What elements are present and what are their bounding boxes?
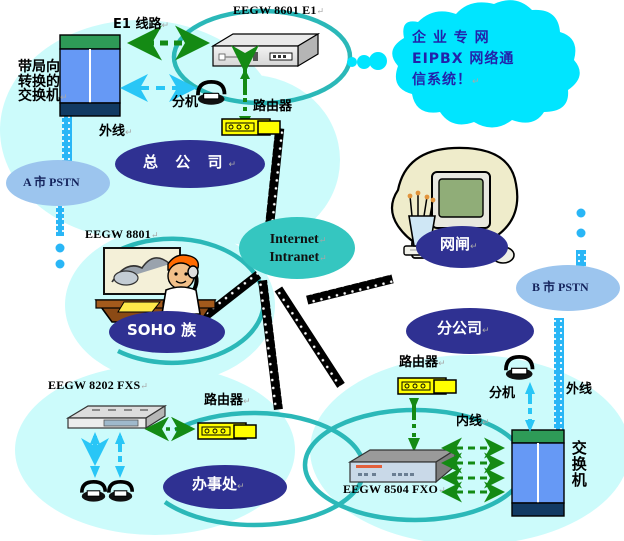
device-label-eegw8202: EEGW 8202 FXS↵ (48, 379, 148, 392)
link-label-e1-line: E1 线路↵ (113, 18, 169, 32)
router-label-hq: 路由器 (253, 100, 292, 114)
router-label-branch: 路由器↵ (399, 356, 446, 370)
eegw8504-graphic (350, 450, 455, 482)
zone-label-headquarters: 总 公 司↵ (143, 155, 242, 171)
cloud-label: 企 业 专 网 EIPBX 网络通 信系统！↵ (412, 28, 572, 91)
cloud-label-line1: 企 业 专 网 (412, 28, 572, 49)
link-label-extension-branch: 分机 (489, 387, 515, 401)
pstn-label-b: B 市 PSTN (532, 281, 589, 294)
switch-hq-graphic (60, 35, 120, 116)
link-label-outer-branch: 外线 (566, 383, 592, 397)
cloud-label-line2: EIPBX 网络通 (412, 49, 572, 70)
zone-label-gateway: 网闸↵ (440, 237, 478, 253)
link-label-outer-hq: 外线↵ (99, 125, 133, 139)
switch-branch-graphic (512, 430, 564, 516)
device-label-eegw8504: EEGW 8504 FXO↵ (343, 483, 446, 496)
hub-label-line2: Intranet↵ (253, 249, 343, 267)
zone-label-office: 办事处↵ (192, 477, 245, 493)
router-office-graphic (198, 423, 256, 439)
hub-label-line1: Internet↵ (253, 231, 343, 249)
network-diagram-canvas: EEGW 8601 E1↵ EEGW 8801↵ EEGW 8202 FXS↵ … (0, 0, 624, 541)
device-label-eegw8801: EEGW 8801↵ (85, 228, 159, 241)
switch-hq-label-line3: 交换机↵ (18, 89, 68, 104)
link-label-inner-branch: 内线↵ (456, 415, 490, 429)
eegw8202-graphic (68, 406, 165, 428)
router-hq-graphic (222, 119, 280, 135)
router-branch-graphic (398, 378, 456, 394)
device-label-eegw8601: EEGW 8601 E1↵ (233, 4, 324, 17)
hub-label: Internet↵ Intranet↵ (253, 231, 343, 266)
cloud-label-line3: 信系统！↵ (412, 70, 572, 91)
router-label-office: 路由器↵ (204, 394, 251, 408)
pstn-label-a: A 市 PSTN (23, 176, 80, 189)
link-label-extension-hq: 分机 (172, 96, 198, 110)
switch-hq-label-line1: 带局向 (18, 60, 68, 75)
switch-hq-label: 带局向 转换的 交换机↵ (18, 60, 68, 104)
zone-label-branch: 分公司↵ (437, 321, 490, 337)
switch-branch-label: 交换机 (570, 440, 586, 488)
eegw8601-graphic (213, 34, 318, 66)
zone-label-soho: SOHO 族 (127, 323, 196, 339)
